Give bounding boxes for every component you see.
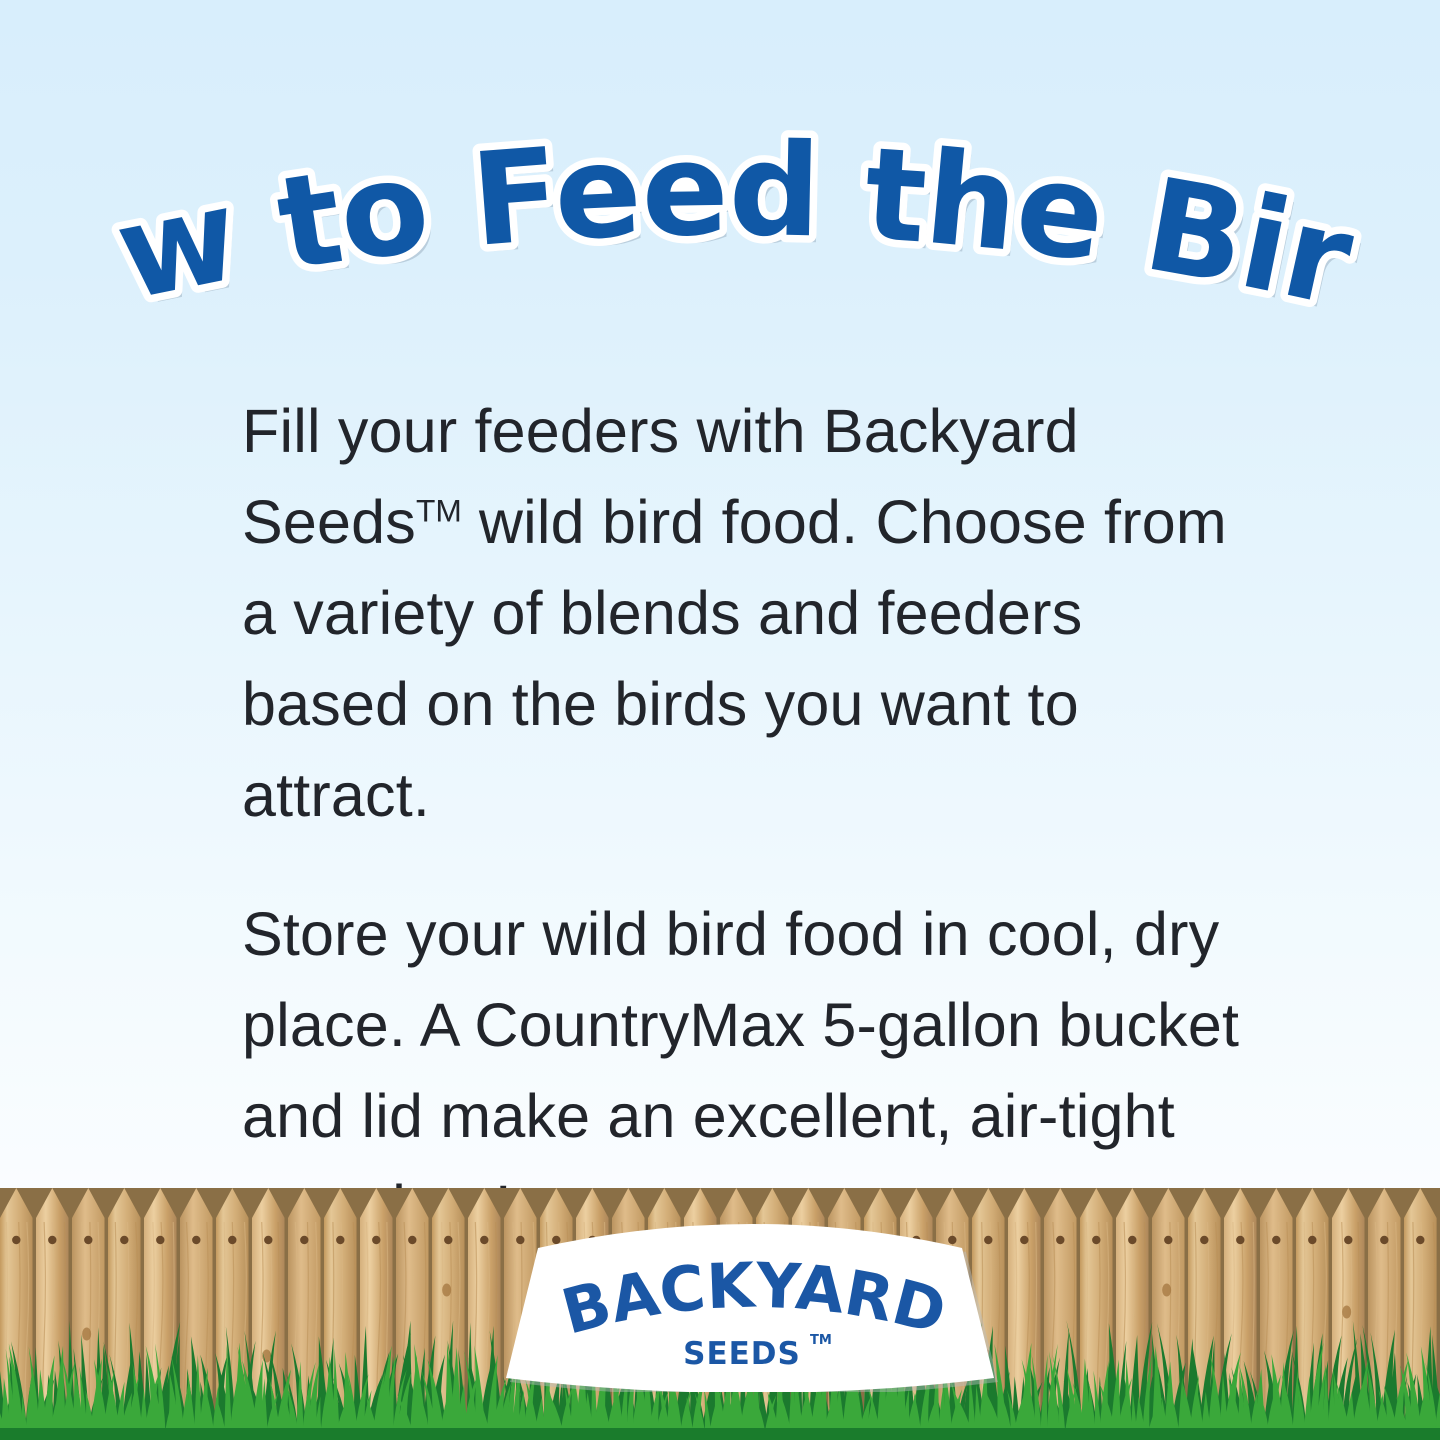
fence-nail [1200, 1236, 1208, 1244]
fence-nail [1164, 1236, 1172, 1244]
fence-knot [1342, 1306, 1351, 1319]
fence-nail [264, 1236, 272, 1244]
fence-nail [408, 1236, 416, 1244]
fence-nail [1344, 1236, 1352, 1244]
fence-nail [192, 1236, 200, 1244]
fence-nail [300, 1236, 308, 1244]
poster-canvas: How to Feed the Birds How to Feed the Bi… [0, 0, 1440, 1440]
fence-knot [442, 1284, 451, 1297]
fence-nail [156, 1236, 164, 1244]
fence-nail [120, 1236, 128, 1244]
fence-nail [48, 1236, 56, 1244]
fence-nail [1416, 1236, 1424, 1244]
fence-nail [1020, 1236, 1028, 1244]
fence-nail [228, 1236, 236, 1244]
fence-nail [1092, 1236, 1100, 1244]
fence-nail [1272, 1236, 1280, 1244]
fence-knot [1162, 1284, 1171, 1297]
logo-sub-text: SEEDS [683, 1336, 801, 1372]
fence-knot [82, 1328, 91, 1341]
fence-nail [1308, 1236, 1316, 1244]
logo-sub-trademark: TM [810, 1333, 832, 1348]
logo-backyard-seeds: BACKYARD BACKYARD SEEDS TM [494, 1216, 1014, 1392]
fence-nail [1380, 1236, 1388, 1244]
fence-nail [12, 1236, 20, 1244]
fence-nail [480, 1236, 488, 1244]
fence-nail [84, 1236, 92, 1244]
fence-nail [372, 1236, 380, 1244]
fence-nail [1128, 1236, 1136, 1244]
fence-nail [336, 1236, 344, 1244]
fence-nail [1236, 1236, 1244, 1244]
page-title: How to Feed the Birds How to Feed the Bi… [0, 92, 1440, 332]
fence-nail [444, 1236, 452, 1244]
body-copy: Fill your feeders with Backyard SeedsTM … [242, 386, 1252, 1253]
paragraph-1: Fill your feeders with Backyard SeedsTM … [242, 386, 1252, 841]
trademark-symbol: TM [416, 493, 462, 529]
page-title-text: How to Feed the Birds [0, 92, 1364, 332]
fence-nail [1056, 1236, 1064, 1244]
